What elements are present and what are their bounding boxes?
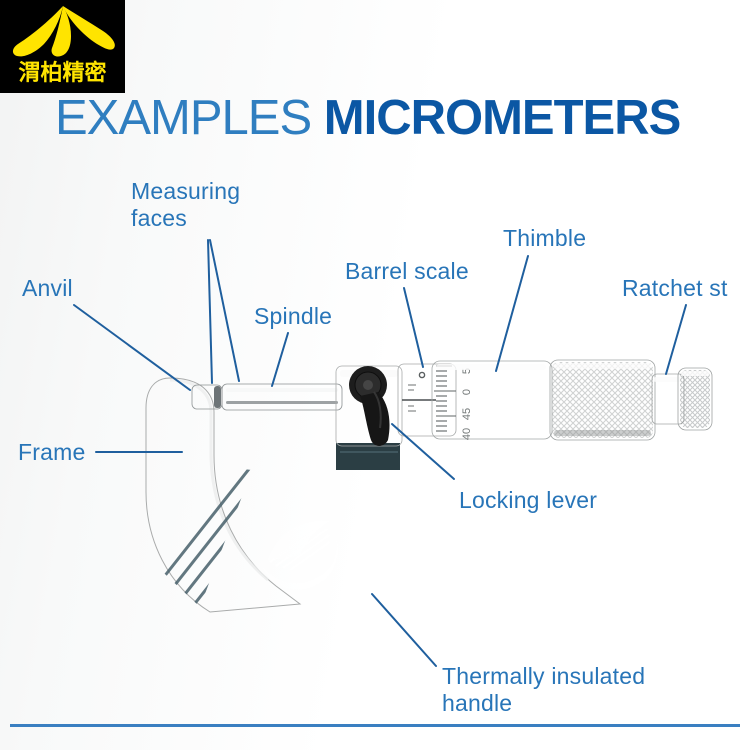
leader-thermal-handle xyxy=(372,594,436,666)
leader-locking-lever xyxy=(392,424,454,479)
leader-anvil xyxy=(74,305,190,390)
leader-spindle xyxy=(272,333,288,386)
company-logo: 渭柏精密 xyxy=(0,0,125,93)
wing-emblem-icon xyxy=(8,4,118,60)
label-thermally-insulated-handle: Thermally insulated handle xyxy=(442,663,722,717)
label-locking-lever: Locking lever xyxy=(459,487,597,514)
label-frame: Frame xyxy=(18,439,85,466)
page-canvas: 5 0 45 40 xyxy=(0,0,750,750)
leader-barrel-scale xyxy=(404,288,423,367)
leader-lines-group xyxy=(0,0,750,750)
label-thimble: Thimble xyxy=(503,225,586,252)
leader-measuring-faces-left xyxy=(208,240,212,383)
label-ratchet-stop: Ratchet st xyxy=(622,275,728,302)
label-spindle: Spindle xyxy=(254,303,332,330)
logo-chinese-name: 渭柏精密 xyxy=(0,58,125,90)
label-measuring-faces: Measuring faces xyxy=(131,178,301,232)
leader-thimble xyxy=(496,256,528,371)
leader-measuring-faces-right xyxy=(210,240,239,381)
leader-ratchet-stop xyxy=(666,305,686,374)
label-barrel-scale: Barrel scale xyxy=(345,258,469,285)
label-anvil: Anvil xyxy=(22,275,73,302)
